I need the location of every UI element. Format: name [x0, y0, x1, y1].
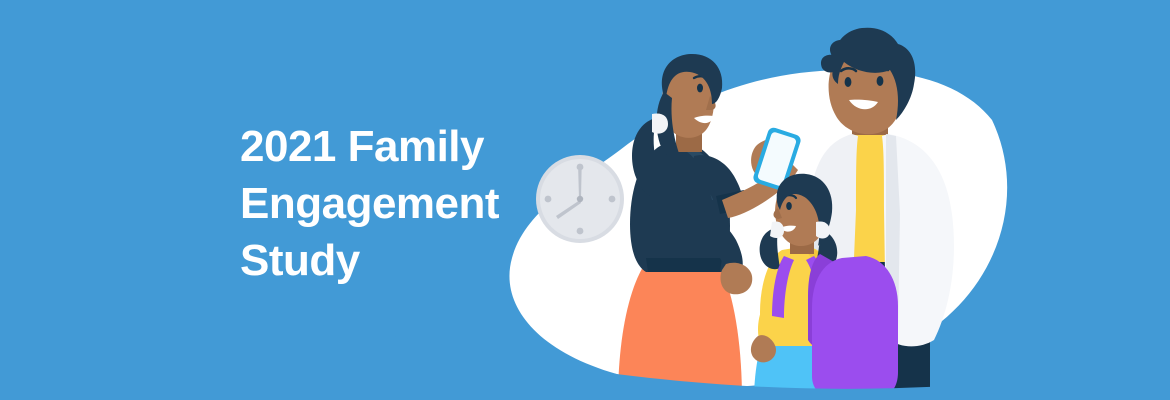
mother-top-waist — [646, 258, 722, 272]
father-eye-right — [877, 76, 884, 86]
page-title: 2021 Family Engagement Study — [240, 118, 540, 289]
backpack-icon — [808, 254, 898, 400]
daughter-eye — [786, 202, 792, 210]
clock-marker-3 — [609, 196, 616, 203]
wall-clock-icon — [536, 155, 624, 243]
backpack-body — [812, 256, 898, 400]
family-engagement-banner: 2021 Family Engagement Study — [0, 0, 1170, 400]
family-illustration — [0, 0, 1170, 400]
clock-marker-6 — [577, 228, 584, 235]
father-eye-left — [845, 77, 852, 87]
mother-eye — [697, 84, 703, 93]
clock-marker-12 — [577, 164, 584, 171]
clock-center-pin — [577, 196, 583, 202]
clock-marker-9 — [545, 196, 552, 203]
